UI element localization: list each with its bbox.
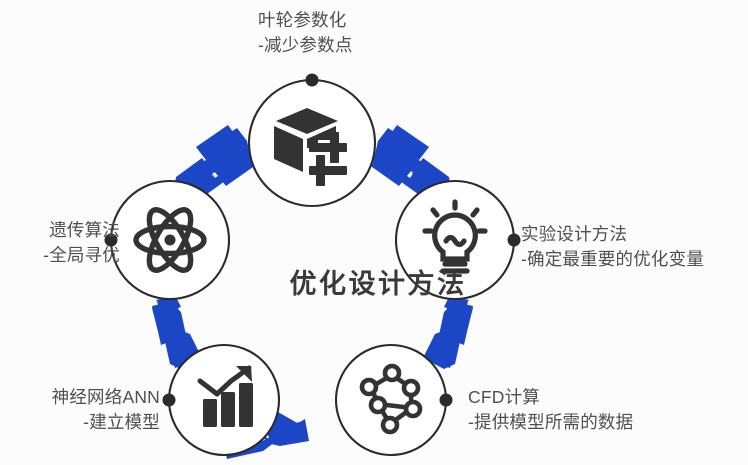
label-title: 实验设计方法 — [521, 222, 704, 247]
label-title: 神经网络ANN — [8, 385, 160, 410]
connector-dot-bottom-left — [163, 394, 176, 407]
label-neural-network-ann: 神经网络ANN -建立模型 — [8, 385, 160, 435]
optimization-cycle-diagram: 优化设计方法 叶轮参数化 -减少参数点 实验设计方法 -确定最重要的优化变量 C… — [0, 0, 748, 465]
label-title: 遗传算法 — [8, 218, 120, 243]
label-subtitle: -确定最重要的优化变量 — [521, 247, 704, 272]
label-genetic-algorithm: 遗传算法 -全局寻优 — [8, 218, 120, 268]
arrow-segment-right-bottomright — [423, 296, 473, 369]
label-title: 叶轮参数化 — [258, 8, 353, 33]
label-subtitle: -全局寻优 — [8, 243, 120, 268]
label-design-of-experiments: 实验设计方法 -确定最重要的优化变量 — [521, 222, 704, 272]
label-title: CFD计算 — [468, 385, 633, 410]
label-subtitle: -建立模型 — [8, 410, 160, 435]
label-impeller-parameterization: 叶轮参数化 -减少参数点 — [258, 8, 353, 58]
label-cfd-calculation: CFD计算 -提供模型所需的数据 — [468, 385, 633, 435]
label-subtitle: -提供模型所需的数据 — [468, 410, 633, 435]
connector-dot-bottom-right — [440, 394, 453, 407]
connector-dot-top — [306, 74, 319, 87]
label-subtitle: -减少参数点 — [258, 33, 353, 58]
connector-dot-right — [508, 234, 521, 247]
circle-cfd-calculation[interactable] — [336, 345, 446, 455]
